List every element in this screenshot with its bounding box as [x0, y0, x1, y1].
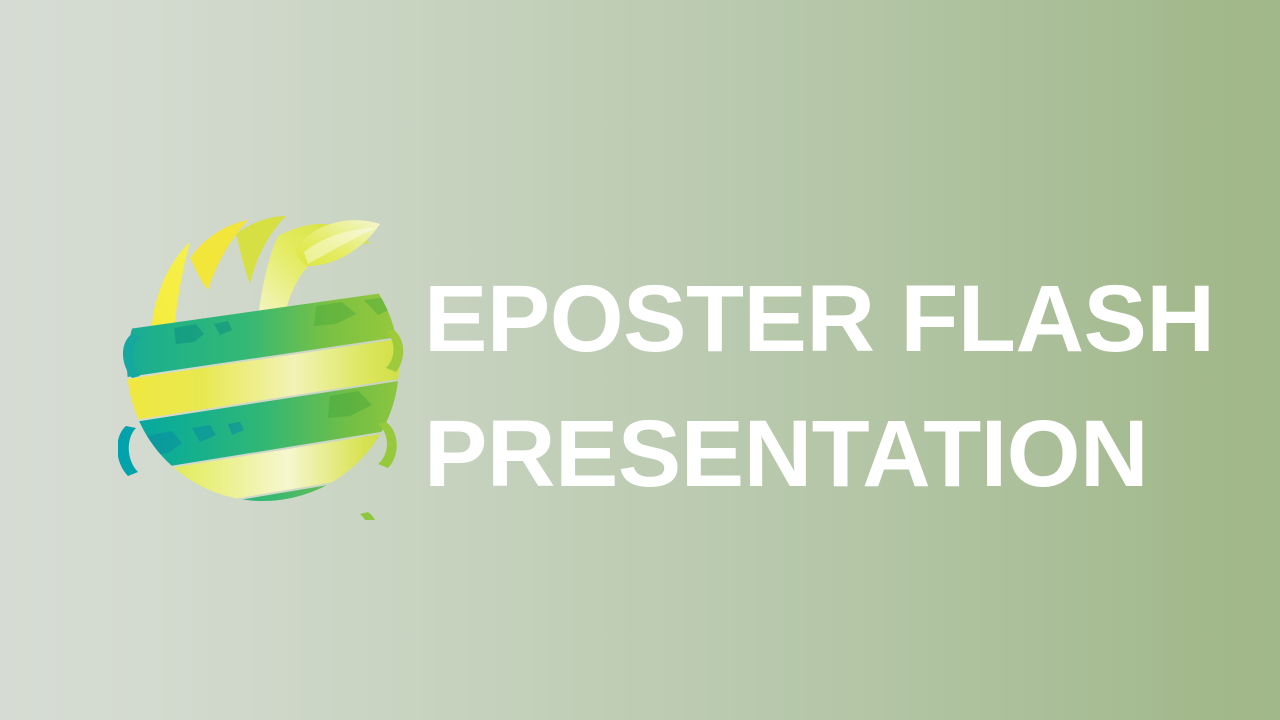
- title-line-1: EPOSTER FLASH: [424, 252, 1224, 387]
- logo: [118, 200, 408, 520]
- ribbon-globe-leaf-icon: [118, 200, 408, 520]
- slide-canvas: EPOSTER FLASH PRESENTATION: [0, 0, 1280, 720]
- title-line-2: PRESENTATION: [424, 387, 1224, 522]
- page-title: EPOSTER FLASH PRESENTATION: [424, 252, 1224, 522]
